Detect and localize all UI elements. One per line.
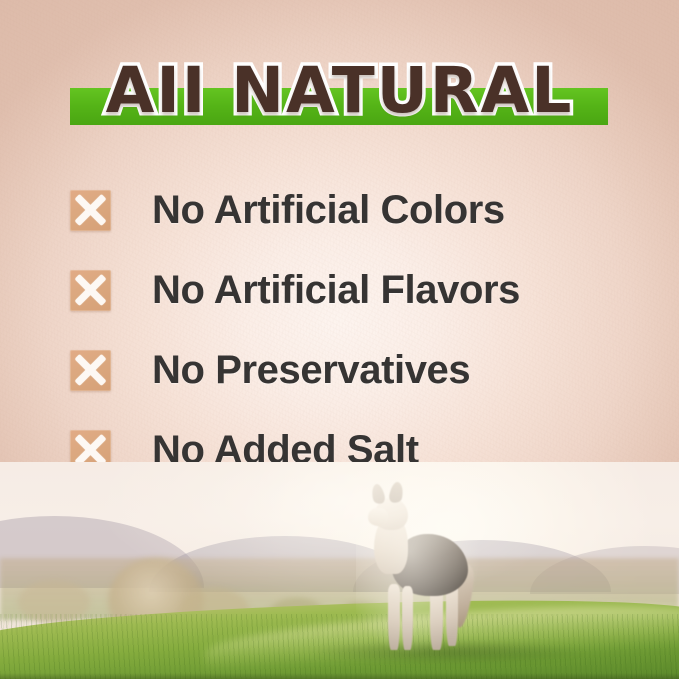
feature-row: No Artificial Flavors (70, 250, 630, 330)
dog-ear (370, 483, 386, 505)
dog-muzzle (368, 508, 388, 526)
border-collie-dog (362, 478, 474, 656)
dog-leg (388, 584, 400, 650)
dog-leg (402, 586, 413, 650)
x-mark-icon (70, 190, 111, 231)
title-banner: AII NATURAL (0, 48, 679, 134)
dog-leg (430, 588, 443, 650)
feature-label: No Preservatives (152, 348, 470, 393)
feature-row: No Artificial Colors (70, 170, 630, 250)
feature-row: No Preservatives (70, 330, 630, 410)
x-mark-icon (70, 270, 111, 311)
hillside-dog-photo (0, 462, 679, 679)
photo-bottom-edge (0, 673, 679, 679)
feature-label: No Artificial Colors (152, 188, 505, 233)
banner-title-text: AII NATURAL (0, 48, 679, 134)
feature-label: No Artificial Flavors (152, 268, 520, 313)
all-natural-feature-panel: AII NATURAL No Artificial Colors No Arti… (0, 0, 679, 679)
x-mark-icon (70, 350, 111, 391)
dog-ear (388, 481, 405, 504)
feature-list: No Artificial Colors No Artificial Flavo… (70, 170, 630, 490)
